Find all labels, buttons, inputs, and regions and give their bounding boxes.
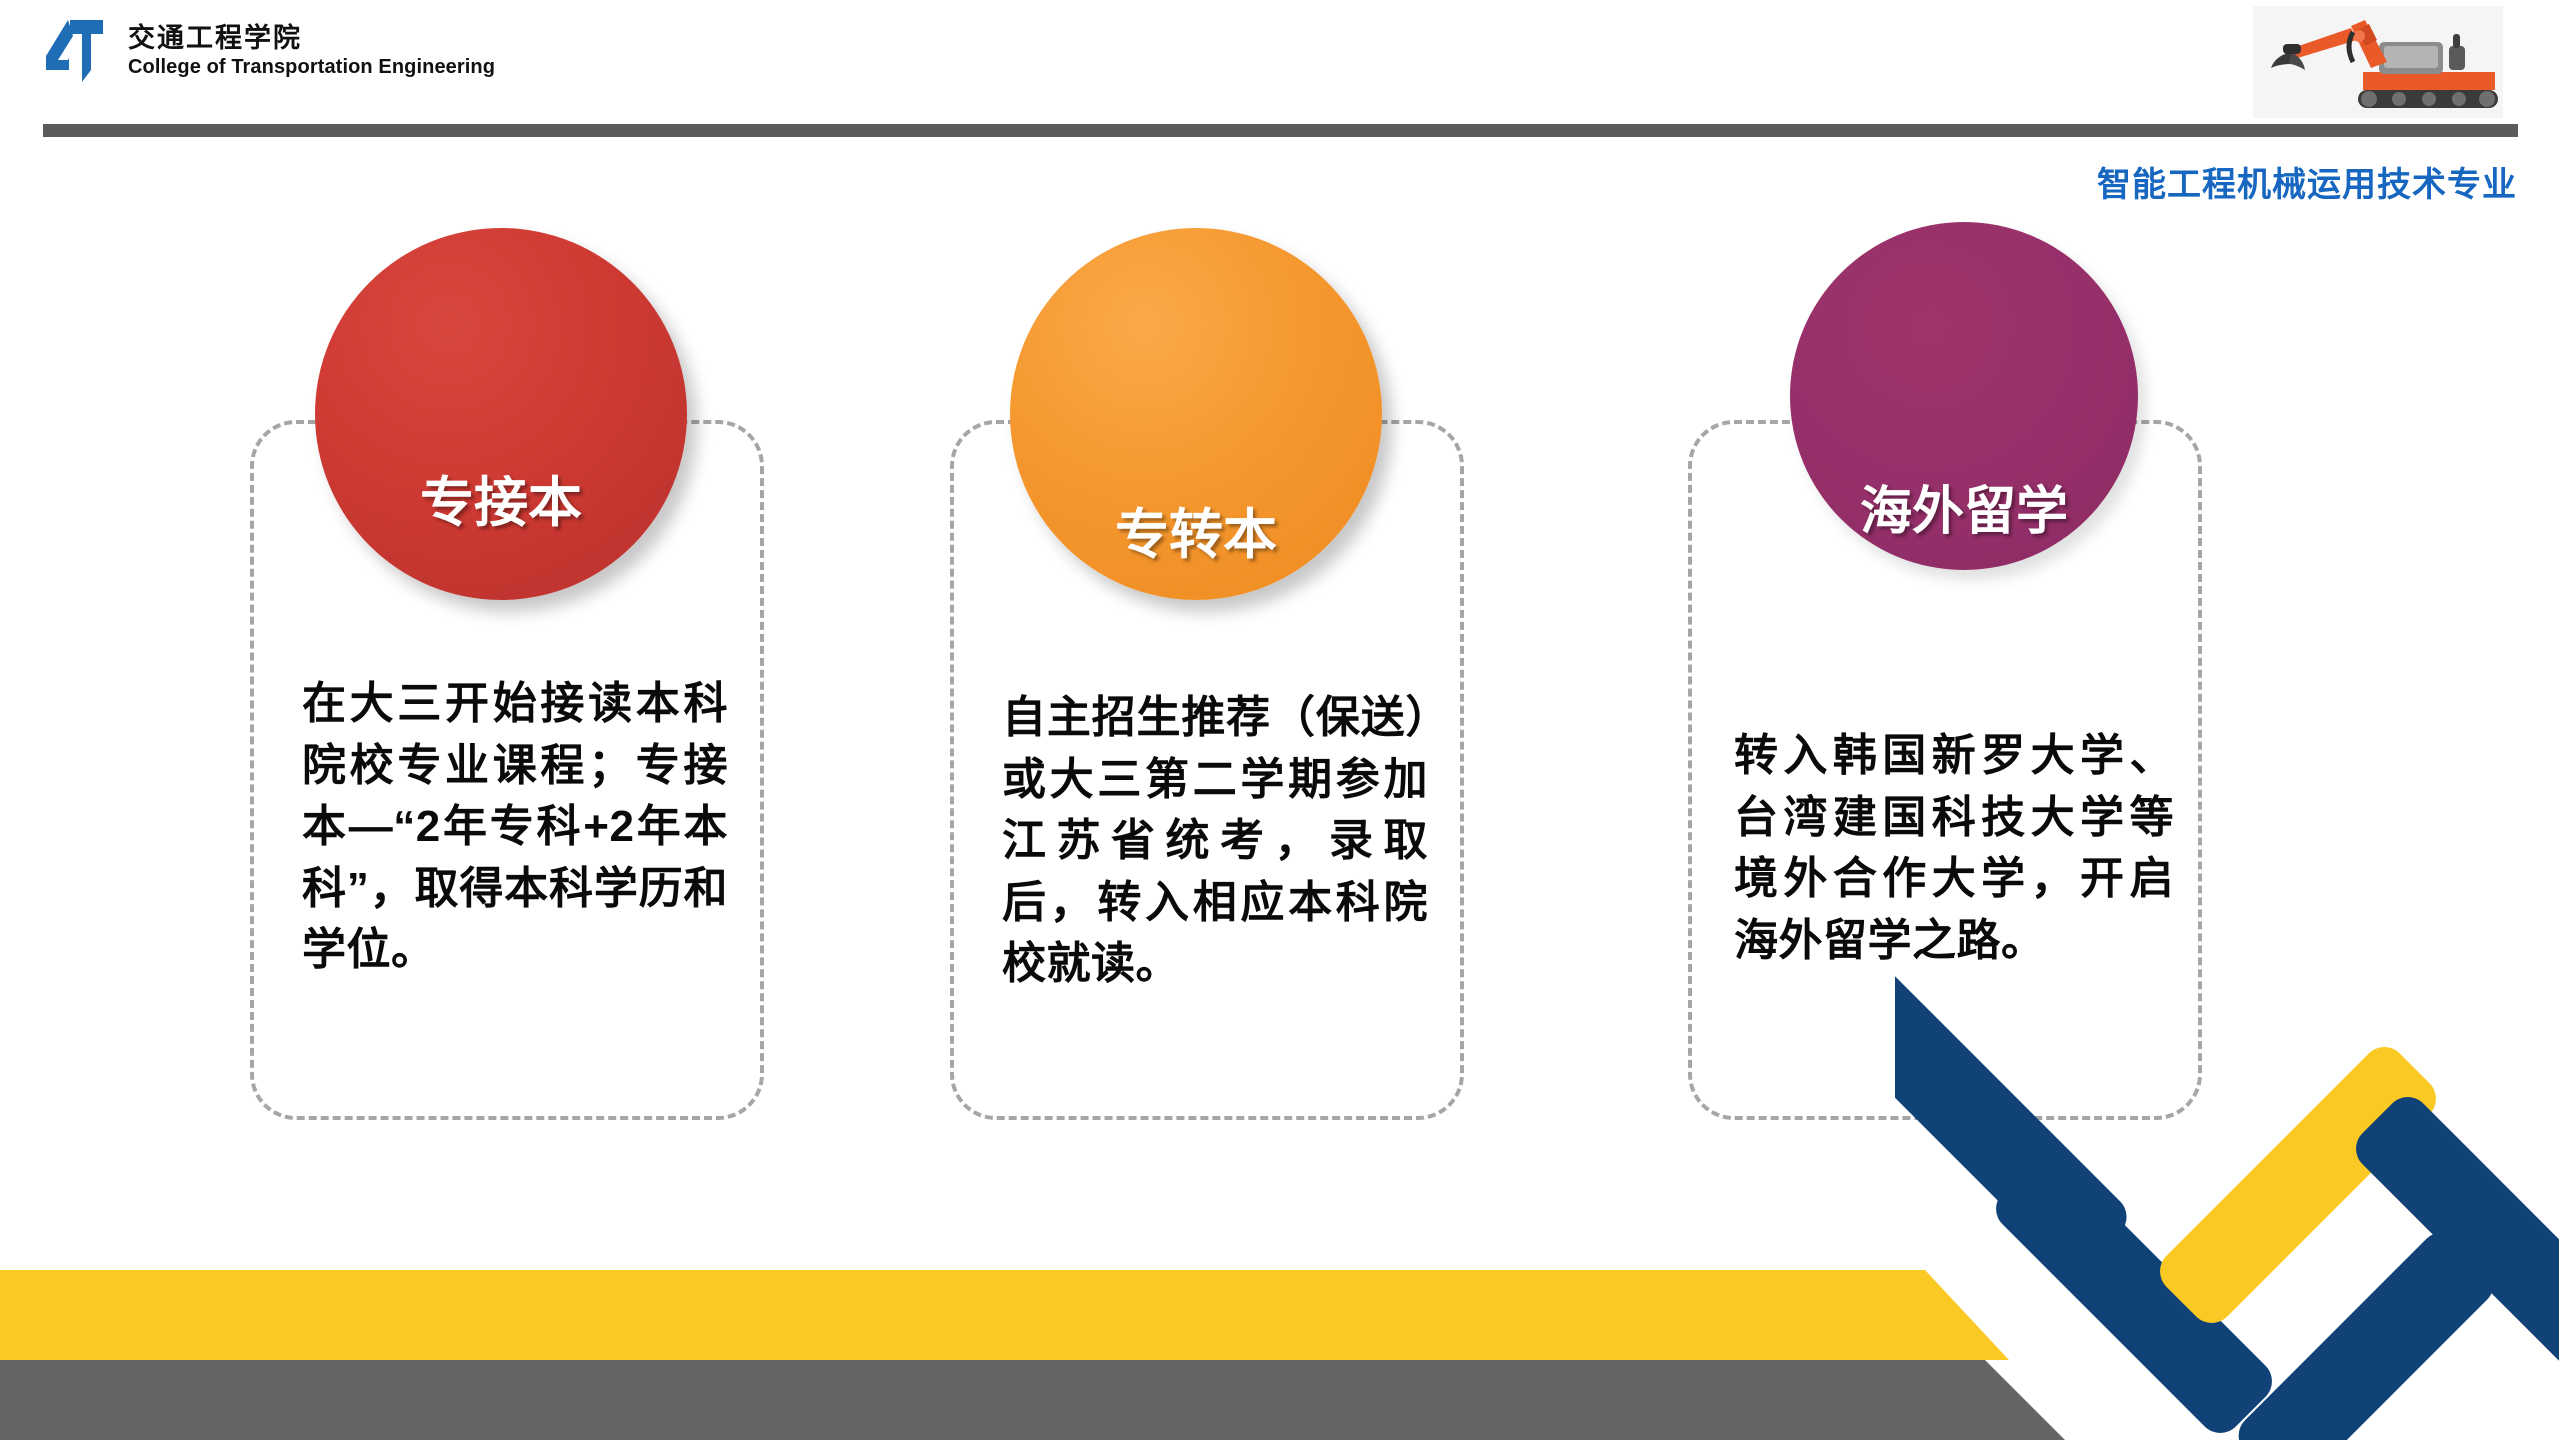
card-badge-label: 海外留学 [1860, 469, 2068, 544]
card-badge-circle-overseas-study: 海外留学 [1790, 222, 2138, 570]
card-badge-label: 专转本 [1115, 490, 1277, 569]
card-badge-label: 专接本 [420, 458, 582, 537]
footer-band-yellow [0, 1270, 2009, 1360]
footer-band-gray [0, 1360, 2065, 1440]
card-body-text: 自主招生推荐（保送）或大三第二学期参加江苏省统考，录取后，转入相应本科院校就读。 [1002, 687, 1428, 995]
card-body-text: 在大三开始接读本科院校专业课程；专接本—“2年专科+2年本科”，取得本科学历和学… [302, 673, 728, 981]
slide-canvas: 交通工程学院 College of Transportation Enginee… [0, 0, 2559, 1440]
corner-chevron-decoration [1895, 960, 2559, 1440]
card-badge-circle-zhuanjieben: 专接本 [315, 228, 687, 600]
card-badge-circle-zhuanzhuanben: 专转本 [1010, 228, 1382, 600]
footer-bands [0, 1270, 2100, 1440]
card-body-text: 转入韩国新罗大学、台湾建国科技大学等境外合作大学，开启海外留学之路。 [1734, 725, 2174, 971]
